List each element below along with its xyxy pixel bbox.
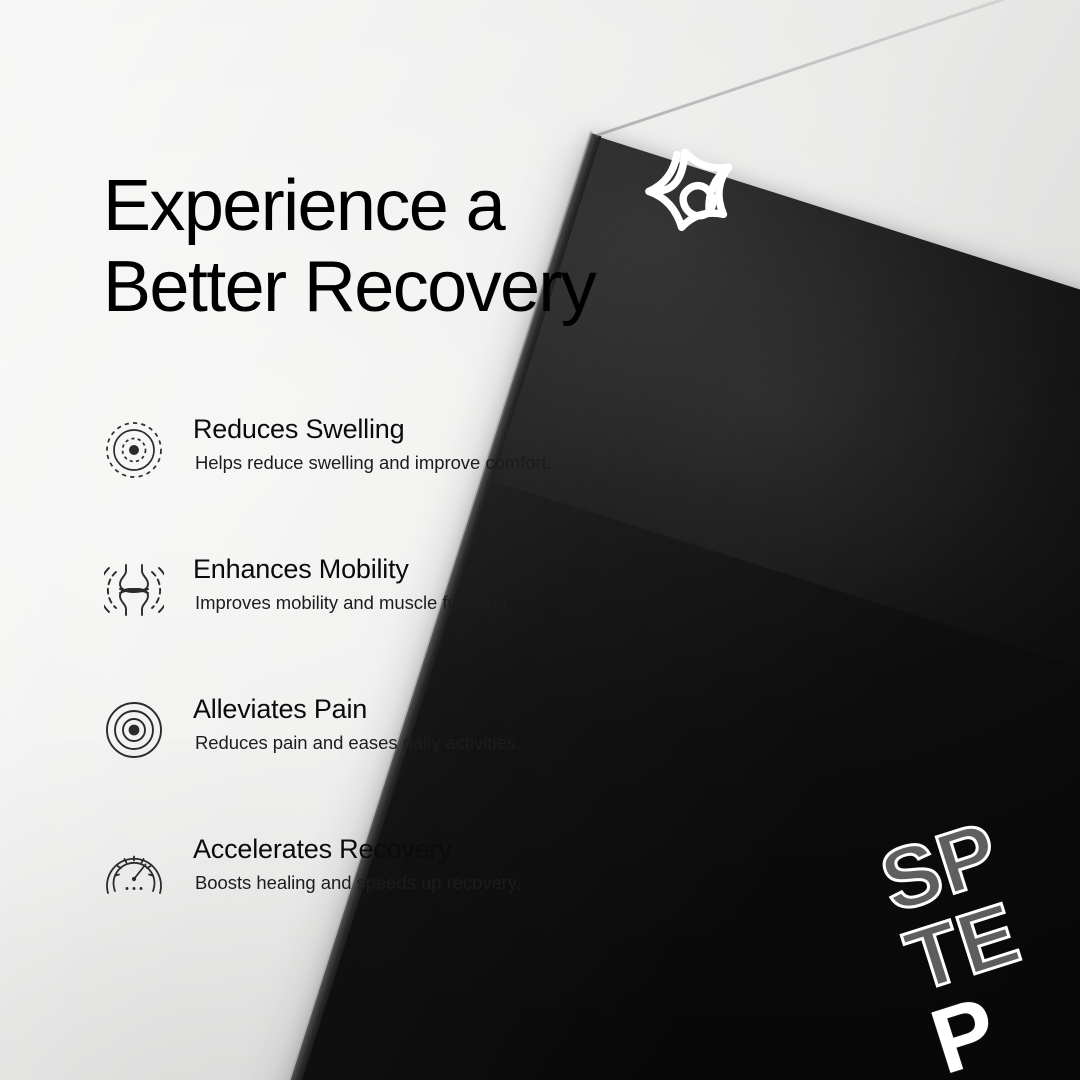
feature-description: Reduces pain and eases daily activities. — [195, 731, 623, 754]
package-text-line1: SP — [872, 811, 1008, 925]
feature-title: Enhances Mobility — [193, 554, 623, 585]
feature-list: Reduces Swelling Helps reduce swelling a… — [100, 408, 630, 968]
feature-description: Boosts healing and speeds up recovery. — [195, 871, 623, 894]
feature-title: Reduces Swelling — [193, 414, 623, 445]
feature-text-block: Enhances Mobility Improves mobility and … — [193, 554, 623, 614]
page-title: Experience a Better Recovery — [103, 166, 595, 327]
feature-item-alleviates-pain: Alleviates Pain Reduces pain and eases d… — [100, 688, 630, 828]
feature-description: Helps reduce swelling and improve comfor… — [195, 451, 623, 474]
product-box-top-bevel — [596, 0, 1080, 137]
package-text-line3: P — [922, 968, 1060, 1080]
speedometer-gauge-icon — [104, 840, 164, 900]
bullseye-target-icon — [104, 700, 164, 760]
package-text-line2: TE — [897, 889, 1033, 1003]
knee-joint-icon — [104, 560, 164, 620]
package-typography: SP TE P — [872, 811, 1060, 1080]
feature-item-accelerates-recovery: Accelerates Recovery Boosts healing and … — [100, 828, 630, 968]
feature-description: Improves mobility and muscle function. — [195, 591, 623, 614]
feature-title: Alleviates Pain — [193, 694, 623, 725]
feature-text-block: Accelerates Recovery Boosts healing and … — [193, 834, 623, 894]
feature-text-block: Alleviates Pain Reduces pain and eases d… — [193, 694, 623, 754]
feature-item-reduces-swelling: Reduces Swelling Helps reduce swelling a… — [100, 408, 630, 548]
feature-item-enhances-mobility: Enhances Mobility Improves mobility and … — [100, 548, 630, 688]
feature-text-block: Reduces Swelling Helps reduce swelling a… — [193, 414, 623, 474]
content-column: Experience a Better Recovery Reduces Swe… — [0, 0, 640, 1080]
dashed-concentric-circles-icon — [104, 420, 164, 480]
product-hero-banner: SP TE P Experience a Better Recovery — [0, 0, 1080, 1080]
feature-title: Accelerates Recovery — [193, 834, 623, 865]
interlaced-star-knot-logo — [632, 127, 762, 257]
